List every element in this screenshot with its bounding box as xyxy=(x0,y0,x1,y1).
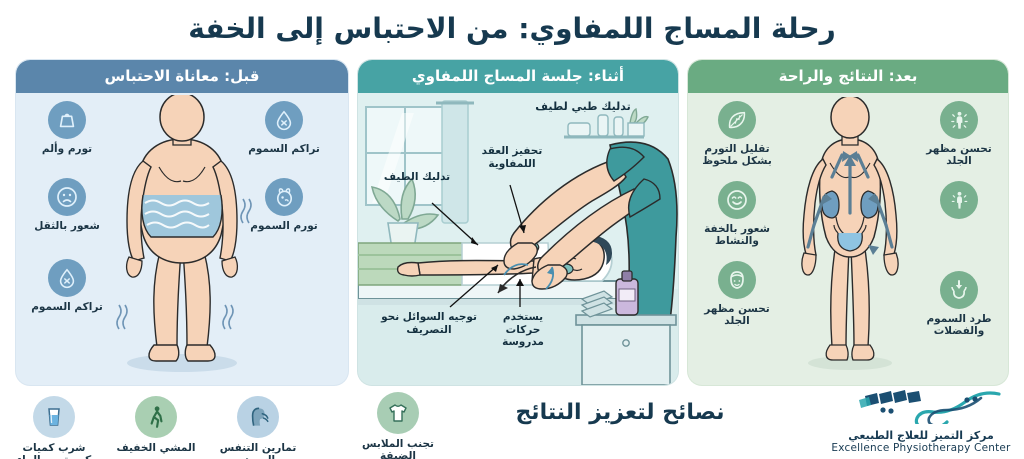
logo-english-name: Excellence Physiotherapy Center xyxy=(828,442,1014,454)
swollen-body-figure xyxy=(107,95,257,375)
page-title: رحلة المساج اللمفاوي: من الاحتباس إلى ال… xyxy=(0,6,1024,52)
feature-label: تحسن مظهر الجلد xyxy=(916,143,1002,167)
feature-label: تراكم السموم xyxy=(241,143,327,155)
panel-during-body: تدليك طبي لطيف تحفيز العقد اللمفاوية تدل… xyxy=(358,93,678,385)
logo-arabic-name: مركز التميز للعلاج الطبيعي xyxy=(828,429,1014,442)
feature-skin-appearance-right: تحسن مظهر الجلد xyxy=(916,101,1002,167)
slim-person-icon xyxy=(940,181,978,219)
lymph-flow-body-figure xyxy=(780,97,920,375)
tip-drink-water: شرب كميات كبيرة من الماء xyxy=(8,396,100,459)
feature-swelling-reduction: تقليل التورم بشكل ملحوظ xyxy=(694,101,780,167)
panel-before: قبل: معاناة الاحتباس xyxy=(16,60,348,385)
bladder-detox-icon xyxy=(940,271,978,309)
tip-light-walking: المشي الخفيف xyxy=(110,396,202,454)
infographic-canvas: رحلة المساج اللمفاوي: من الاحتباس إلى ال… xyxy=(0,0,1024,459)
walking-icon xyxy=(135,396,177,438)
feature-label: تحسن مظهر الجلد xyxy=(694,303,780,327)
feature-label: شعور بالخفة والنشاط xyxy=(694,223,780,247)
feature-swelling-pain: تورم وألم xyxy=(24,101,110,155)
tip-avoid-tight-clothes: تجنب الملابس الضيقة xyxy=(352,392,444,459)
feature-toxin-swelling: تورم السموم xyxy=(241,178,327,232)
annotation-fluid-drainage-direction: توجيه السوائل نحو التصريف xyxy=(376,311,482,336)
leaf-icon xyxy=(718,101,756,139)
panel-during: أثناء: جلسة المساج اللمفاوي xyxy=(358,60,678,385)
water-glass-icon xyxy=(33,396,75,438)
tip-label: تجنب الملابس الضيقة xyxy=(352,438,444,459)
weight-icon xyxy=(48,101,86,139)
sad-face-icon xyxy=(48,178,86,216)
feature-label: تراكم السموم xyxy=(24,301,110,313)
panel-after-body: تقليل التورم بشكل ملحوظ شعور بالخفة والن… xyxy=(688,93,1008,385)
tips-title: نصائح لتعزيز النتائج xyxy=(470,400,770,425)
face-skin-icon xyxy=(718,261,756,299)
feature-label: تورم وألم xyxy=(24,143,110,155)
annotation-deliberate-movements: يستخدم حركات مدروسة xyxy=(490,311,556,349)
feature-lightness-energy: شعور بالخفة والنشاط xyxy=(694,181,780,247)
logo: مركز التميز للعلاج الطبيعي Excellence Ph… xyxy=(828,388,1014,454)
breathing-icon xyxy=(237,396,279,438)
tip-label: شرب كميات كبيرة من الماء xyxy=(8,442,100,459)
feature-heaviness: شعور بالثقل xyxy=(24,178,110,232)
feature-slim-person xyxy=(916,181,1002,223)
annotation-light-touch-massage: تدليك الطيف xyxy=(380,171,454,184)
panel-after-header: بعد: النتائج والراحة xyxy=(688,60,1008,93)
feature-label: طرد السموم والفضلات xyxy=(916,313,1002,337)
feature-skin-appearance-left: تحسن مظهر الجلد xyxy=(694,261,780,327)
glowing-person-icon xyxy=(940,101,978,139)
panel-before-body: تورم وألم شعور بالثقل تراكم السموم تر xyxy=(16,93,348,385)
water-drop-x-icon xyxy=(48,259,86,297)
spine-wave-logo-icon xyxy=(831,388,1011,424)
feature-label: تورم السموم xyxy=(241,220,327,232)
tip-label: تمارين التنفس العميق xyxy=(212,442,304,459)
annotation-gentle-medical-massage: تدليك طبي لطيف xyxy=(508,101,658,114)
panel-during-header: أثناء: جلسة المساج اللمفاوي xyxy=(358,60,678,93)
happy-face-icon xyxy=(718,181,756,219)
tshirt-icon xyxy=(377,392,419,434)
tip-label: المشي الخفيف xyxy=(110,442,202,454)
tip-deep-breathing: تمارين التنفس العميق xyxy=(212,396,304,459)
feature-label: تقليل التورم بشكل ملحوظ xyxy=(694,143,780,167)
panel-before-header: قبل: معاناة الاحتباس xyxy=(16,60,348,93)
panel-after: بعد: النتائج والراحة xyxy=(688,60,1008,385)
feature-label: شعور بالثقل xyxy=(24,220,110,232)
feature-toxin-buildup-right: تراكم السموم xyxy=(241,101,327,155)
feature-toxin-elimination: طرد السموم والفضلات xyxy=(916,271,1002,337)
swollen-cell-icon xyxy=(265,178,303,216)
annotation-lymph-node-stimulation: تحفيز العقد اللمفاوية xyxy=(466,145,558,170)
feature-toxin-buildup-left: تراكم السموم xyxy=(24,259,110,313)
water-drop-x-icon xyxy=(265,101,303,139)
